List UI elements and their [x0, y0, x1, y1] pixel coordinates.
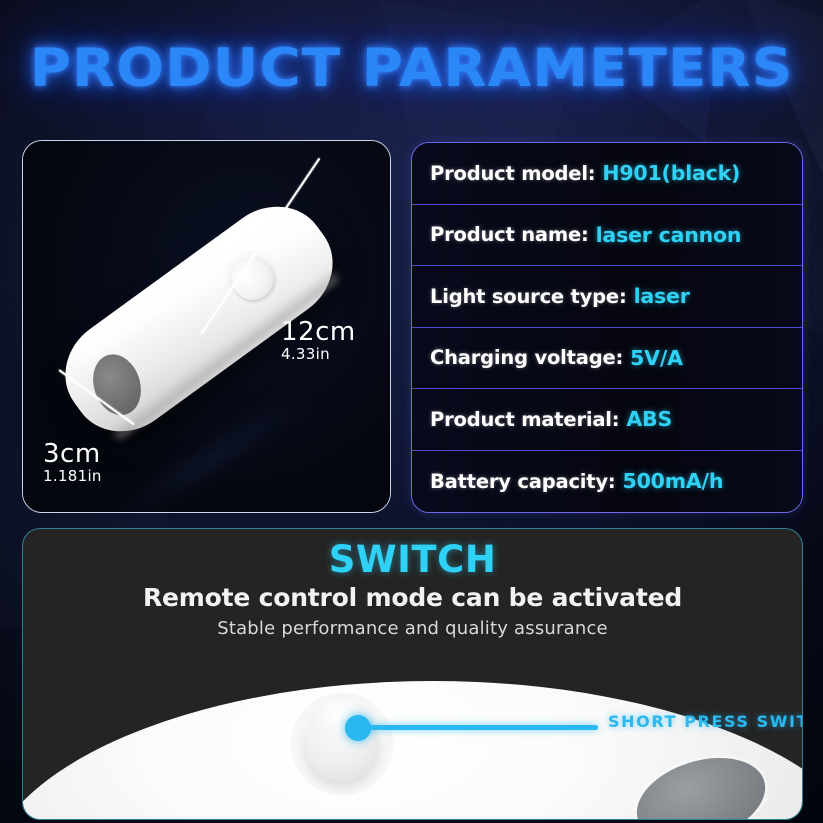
switch-caption: Stable performance and quality assurance [23, 618, 802, 639]
photo-backdrop: 12cm 4.33in 3cm 1.181in [23, 141, 390, 512]
spec-value: laser [634, 284, 690, 308]
spec-value: 500mA/h [623, 469, 724, 493]
dimension-length: 12cm 4.33in [281, 319, 356, 363]
callout-label: SHORT PRESS SWITCH [608, 712, 803, 731]
spec-value: 5V/A [630, 346, 683, 370]
spec-value: laser cannon [596, 223, 742, 247]
spec-value: H901(black) [602, 161, 740, 185]
dimension-length-imperial: 4.33in [281, 346, 356, 363]
dimension-width-imperial: 1.181in [43, 468, 102, 485]
dimension-length-metric: 12cm [281, 319, 356, 346]
spec-label: Charging voltage: [430, 346, 623, 369]
table-row: Battery capacity: 500mA/h [412, 451, 802, 513]
table-row: Charging voltage: 5V/A [412, 328, 802, 390]
table-row: Product model: H901(black) [412, 143, 802, 205]
table-row: Product name: laser cannon [412, 205, 802, 267]
switch-heading: SWITCH [23, 538, 802, 581]
product-photo-panel: 12cm 4.33in 3cm 1.181in [22, 140, 391, 513]
switch-section: SWITCH Remote control mode can be activa… [22, 528, 803, 820]
spec-value: ABS [626, 407, 672, 431]
dimension-width: 3cm 1.181in [43, 441, 102, 485]
callout-leader-line [363, 725, 598, 730]
spec-label: Battery capacity: [430, 470, 616, 493]
switch-subtitle: Remote control mode can be activated [23, 583, 802, 612]
spec-label: Product name: [430, 223, 589, 246]
dimension-width-metric: 3cm [43, 441, 102, 468]
spec-label: Product material: [430, 408, 619, 431]
spec-label: Product model: [430, 162, 595, 185]
infographic-canvas: PRODUCT PARAMETERS 12cm 4.33in 3cm 1.181… [0, 0, 823, 823]
table-row: Light source type: laser [412, 266, 802, 328]
table-row: Product material: ABS [412, 389, 802, 451]
spec-label: Light source type: [430, 285, 627, 308]
page-title: PRODUCT PARAMETERS [0, 38, 823, 99]
specifications-table: Product model: H901(black) Product name:… [411, 142, 803, 513]
